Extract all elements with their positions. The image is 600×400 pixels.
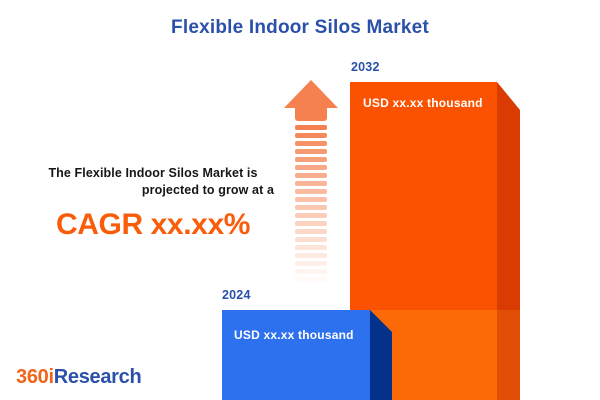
arrow-stripe <box>295 197 327 202</box>
logo-text-360i: 360i <box>16 366 54 388</box>
callout-line-2: projected to grow at a <box>22 182 284 199</box>
arrow-stripe <box>295 141 327 146</box>
arrow-stripe <box>295 229 327 234</box>
bar-value-2024: USD xx.xx thousand <box>234 328 354 342</box>
arrow-neck <box>295 108 327 121</box>
arrow-stripe <box>295 181 327 186</box>
growth-arrow-icon <box>284 80 338 292</box>
arrow-stripe <box>295 285 327 290</box>
brand-logo: 360iResearch <box>16 366 141 389</box>
page-title: Flexible Indoor Silos Market <box>0 17 600 39</box>
market-infographic: Flexible Indoor Silos Market The Flexibl… <box>0 0 600 400</box>
arrow-stripe <box>295 165 327 170</box>
arrow-stripe <box>295 205 327 210</box>
arrow-stripe <box>295 173 327 178</box>
arrow-stripe <box>295 261 327 266</box>
arrow-stripe <box>295 277 327 282</box>
bar-value-2032: USD xx.xx thousand <box>363 96 483 110</box>
arrow-stripe <box>295 189 327 194</box>
bar-2032-side-overlap-tint <box>497 310 520 400</box>
arrow-stripe <box>295 221 327 226</box>
arrow-stripe <box>295 253 327 258</box>
bar-2024-face <box>222 310 370 400</box>
arrow-stripe <box>295 125 327 130</box>
arrow-stripe <box>295 157 327 162</box>
arrow-stripe <box>295 149 327 154</box>
arrow-stripes <box>295 125 327 292</box>
arrow-stripe <box>295 133 327 138</box>
callout-block: The Flexible Indoor Silos Market is proj… <box>22 165 284 242</box>
bar-label-year-2024: 2024 <box>222 288 251 302</box>
callout-line-1: The Flexible Indoor Silos Market is <box>22 165 284 182</box>
cagr-value: CAGR xx.xx% <box>22 208 284 242</box>
arrow-head-icon <box>284 80 338 108</box>
logo-text-research: Research <box>54 366 142 388</box>
arrow-stripe <box>295 213 327 218</box>
arrow-stripe <box>295 245 327 250</box>
arrow-stripe <box>295 237 327 242</box>
bar-label-year-2032: 2032 <box>351 60 380 74</box>
arrow-stripe <box>295 269 327 274</box>
